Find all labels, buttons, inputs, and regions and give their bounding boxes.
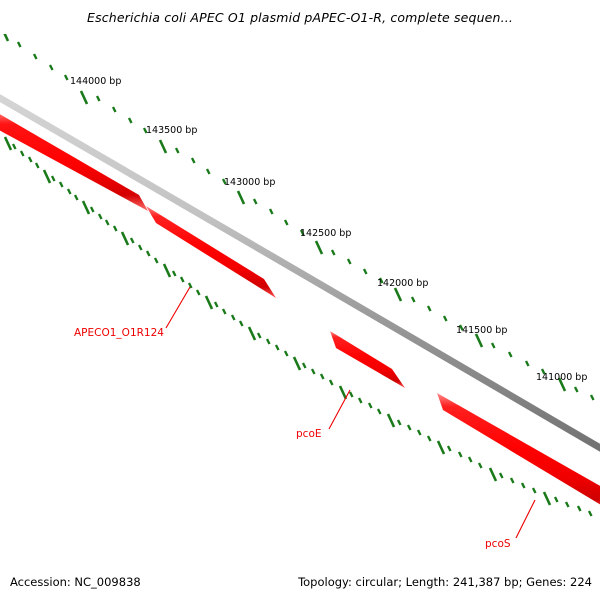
gene-feature-APECO1_O1R124[interactable]: APECO1_O1R124 xyxy=(0,105,276,339)
tick-label: 143500 bp xyxy=(146,125,197,136)
sequence-info-label: Topology: circular; Length: 241,387 bp; … xyxy=(298,575,592,589)
gene-label-pcoE[interactable]: pcoE xyxy=(296,428,322,440)
gene-feature-pcoE[interactable]: pcoE xyxy=(296,331,405,440)
genome-map-viewer[interactable]: Escherichia coli APEC O1 plasmid pAPEC-O… xyxy=(0,0,600,600)
tick-label: 143000 bp xyxy=(224,177,275,188)
genome-backbone[interactable] xyxy=(0,86,600,460)
tick-label: 142000 bp xyxy=(377,278,428,289)
tick-label: 141000 bp xyxy=(536,372,587,383)
gene-label-pcoS[interactable]: pcoS xyxy=(485,538,511,550)
accession-label: Accession: NC_009838 xyxy=(10,575,141,589)
tick-label: 142500 bp xyxy=(300,228,351,239)
gene-label-APECO1_O1R124[interactable]: APECO1_O1R124 xyxy=(74,327,164,339)
tick-label: 141500 bp xyxy=(456,325,507,336)
gene-leader-line xyxy=(166,287,190,328)
tick-label: 144000 bp xyxy=(70,76,121,87)
gene-bar-segment[interactable] xyxy=(330,331,405,388)
status-bar: Accession: NC_009838 Topology: circular;… xyxy=(0,566,600,600)
gene-feature-pcoS[interactable]: pcoS xyxy=(437,393,600,550)
ruler-minor-ticks xyxy=(18,42,594,400)
gene-bar-segment[interactable] xyxy=(437,393,600,514)
gene-leader-line xyxy=(329,390,350,429)
backbone-band[interactable] xyxy=(0,86,600,460)
ruler-inner-major-ticks xyxy=(5,137,550,505)
gene-leader-line xyxy=(516,500,535,538)
circular-map-canvas[interactable]: APECO1_O1R124 pcoE pcoS 144000 bp 143500… xyxy=(0,0,600,600)
gene-bar-segment[interactable] xyxy=(0,105,148,211)
